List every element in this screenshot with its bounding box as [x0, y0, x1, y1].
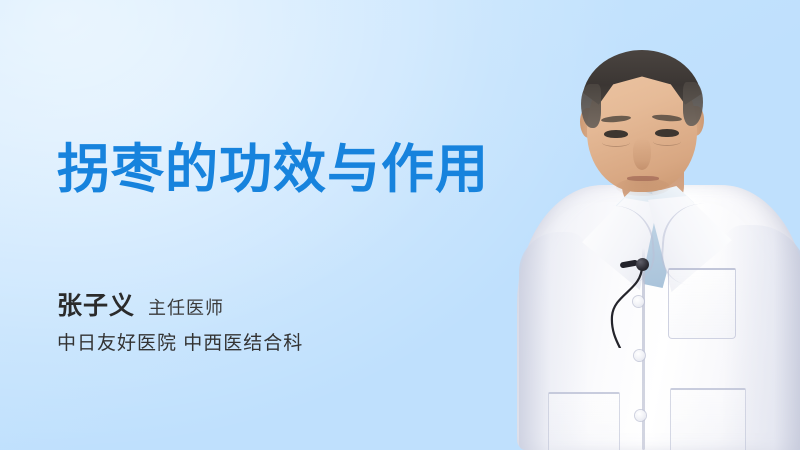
presenter-credentials: 张子义 主任医师: [57, 286, 224, 322]
hair-sideburn-left: [581, 84, 601, 128]
eye-left: [604, 130, 628, 138]
presenter-photo: [470, 0, 800, 450]
presenter-name: 张子义: [57, 286, 135, 322]
lab-coat-button: [634, 350, 645, 361]
presenter-affiliation: 中日友好医院 中西医结合科: [57, 328, 303, 355]
lab-coat-button: [635, 410, 646, 421]
video-title-slide: 拐枣的功效与作用 张子义 主任医师 中日友好医院 中西医结合科: [0, 0, 800, 450]
eye-crease-left: [602, 138, 630, 147]
lapel-microphone-icon: [636, 258, 649, 271]
lab-coat-chest-pocket: [668, 268, 736, 339]
nose: [633, 138, 651, 170]
eye-right: [655, 129, 679, 137]
lab-coat-lower-pocket-right: [670, 388, 746, 450]
chin-shadow: [616, 178, 670, 196]
microphone-cable-icon: [602, 264, 646, 348]
page-title: 拐枣的功效与作用: [57, 142, 489, 197]
eye-crease-right: [653, 137, 681, 146]
presenter-rank: 主任医师: [148, 294, 224, 320]
lab-coat-lower-pocket-left: [548, 392, 620, 450]
